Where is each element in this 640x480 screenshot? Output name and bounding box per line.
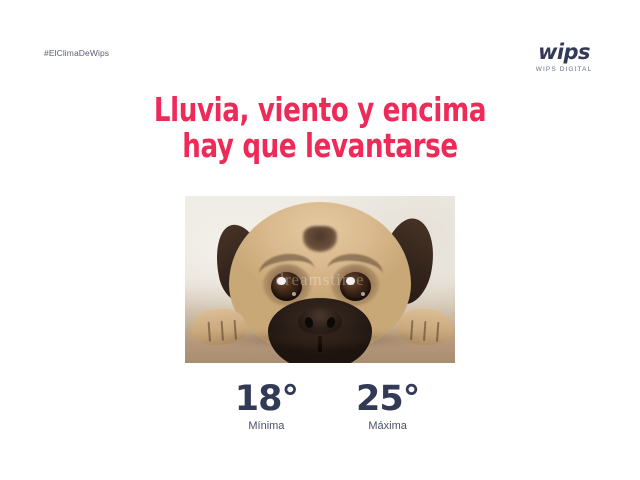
- forecast-temperatures: 18° Mínima 25° Máxima: [0, 380, 640, 433]
- eye-glint: [277, 277, 286, 285]
- eye-glint-secondary: [361, 292, 365, 296]
- brand-tagline: WIPS DIGITAL: [521, 67, 607, 74]
- eye-glint: [346, 277, 355, 285]
- headline-line-1: Lluvia, viento y encima: [38, 92, 601, 128]
- forecast-min: 18° Mínima: [235, 380, 298, 433]
- min-temperature-value: 18°: [235, 380, 298, 418]
- page-title: Lluvia, viento y encima hay que levantar…: [38, 92, 601, 164]
- dog-nostril-left: [304, 316, 315, 329]
- paw-toe-line: [423, 321, 426, 341]
- campaign-hashtag: #ElClimaDeWips: [44, 48, 109, 58]
- pug-dog-illustration: [185, 196, 455, 363]
- paw-toe-line: [436, 322, 439, 342]
- paw-toe-line: [208, 322, 211, 342]
- dog-forehead-patch: [303, 226, 337, 252]
- dog-contact-shadow: [217, 331, 422, 347]
- hero-photo: dreamstime: [185, 196, 455, 363]
- max-temperature-value: 25°: [356, 380, 419, 418]
- forecast-max: 25° Máxima: [356, 380, 419, 433]
- weather-card: #ElClimaDeWips wips WIPS DIGITAL Lluvia,…: [0, 0, 640, 480]
- dog-eye-left: [271, 272, 302, 301]
- dog-eye-right: [340, 272, 371, 301]
- brand-logo: wips WIPS DIGITAL: [521, 42, 607, 74]
- dog-nostril-right: [326, 316, 337, 329]
- headline-line-2: hay que levantarse: [38, 128, 601, 164]
- min-temperature-label: Mínima: [235, 420, 298, 433]
- eye-glint-secondary: [292, 292, 296, 296]
- max-temperature-label: Máxima: [356, 420, 419, 433]
- brand-wordmark: wips: [521, 42, 607, 63]
